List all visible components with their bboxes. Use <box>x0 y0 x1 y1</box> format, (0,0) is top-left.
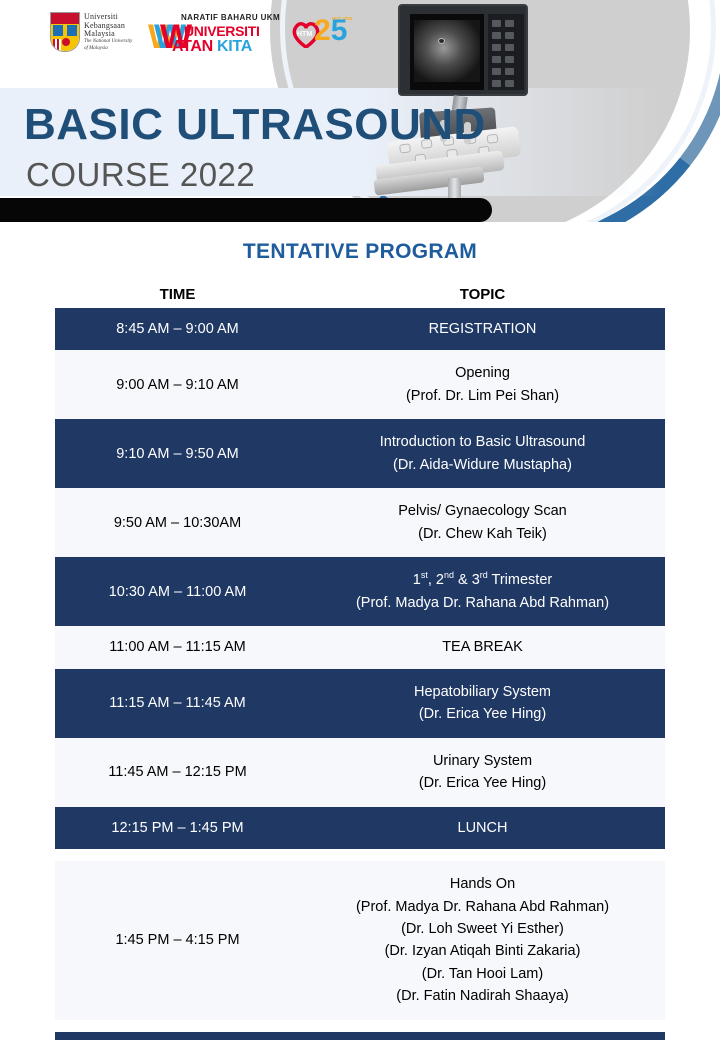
cell-time: 12:15 PM – 1:45 PM <box>55 817 300 839</box>
nbu-kita: KITA <box>217 38 252 55</box>
topic-line: Hepatobiliary System <box>304 681 661 703</box>
row-spacer <box>55 1020 665 1032</box>
ukm-tagline-2: of Malaysia <box>84 46 132 51</box>
table-header-row: TIME TOPIC <box>55 281 665 308</box>
table-body: 8:45 AM – 9:00 AMREGISTRATION9:00 AM – 9… <box>55 308 665 1040</box>
ukm-crest-icon <box>50 12 80 52</box>
nbu-tagline: NARATIF BAHARU UKM <box>181 13 280 22</box>
table-row: 11:45 AM – 12:15 PMUrinary System(Dr. Er… <box>55 738 665 807</box>
topic-line: REGISTRATION <box>304 318 661 340</box>
row-spacer <box>55 849 665 861</box>
program-heading: TENTATIVE PROGRAM <box>0 240 720 264</box>
nbu-atan: ATAN <box>172 38 213 55</box>
topic-line: (Dr. Erica Yee Hing) <box>304 703 661 725</box>
topic-line: (Prof. Dr. Lim Pei Shan) <box>304 385 661 407</box>
topic-line: (Dr. Izyan Atiqah Binti Zakaria) <box>304 940 661 962</box>
cell-topic: Hands On(Prof. Madya Dr. Rahana Abd Rahm… <box>300 873 665 1008</box>
htm-anniversary-number: 25 <box>314 16 347 46</box>
logo-htm-25: HTM HUT 2022 25 <box>292 14 366 58</box>
column-header-time: TIME <box>55 286 300 303</box>
table-row: 4:15 PM – 4:30 PMCLOSING <box>55 1032 665 1040</box>
cell-topic: Introduction to Basic Ultrasound(Dr. Aid… <box>300 431 665 476</box>
cell-time: 8:45 AM – 9:00 AM <box>55 318 300 340</box>
table-row: 10:30 AM – 11:00 AM1st, 2nd & 3rd Trimes… <box>55 557 665 626</box>
table-row: 9:50 AM – 10:30AMPelvis/ Gynaecology Sca… <box>55 488 665 557</box>
cell-topic: TEA BREAK <box>300 636 665 658</box>
column-header-topic: TOPIC <box>300 286 665 303</box>
table-row: 11:00 AM – 11:15 AMTEA BREAK <box>55 626 665 668</box>
cell-time: 9:50 AM – 10:30AM <box>55 512 300 534</box>
cell-topic: 1st, 2nd & 3rd Trimester(Prof. Madya Dr.… <box>300 569 665 614</box>
cell-topic: REGISTRATION <box>300 318 665 340</box>
table-row: 12:15 PM – 1:45 PMLUNCH <box>55 807 665 849</box>
table-row: 9:00 AM – 9:10 AMOpening(Prof. Dr. Lim P… <box>55 350 665 419</box>
nbu-line-universiti: UNIVERSITI <box>184 23 260 39</box>
page-title: BASIC ULTRASOUND <box>24 103 486 147</box>
hero-banner: BASIC ULTRASOUND COURSE 2022 Universiti … <box>0 0 720 222</box>
topic-line: (Prof. Madya Dr. Rahana Abd Rahman) <box>304 592 661 614</box>
cell-topic: Hepatobiliary System(Dr. Erica Yee Hing) <box>300 681 665 726</box>
topic-line: Urinary System <box>304 750 661 772</box>
topic-line: (Prof. Madya Dr. Rahana Abd Rahman) <box>304 896 661 918</box>
logo-ukm: Universiti Kebangsaan Malaysia The Natio… <box>50 12 132 52</box>
cell-time: 1:45 PM – 4:15 PM <box>55 929 300 951</box>
topic-line: TEA BREAK <box>304 636 661 658</box>
cell-time: 11:15 AM – 11:45 AM <box>55 692 300 714</box>
topic-line: Introduction to Basic Ultrasound <box>304 431 661 453</box>
topic-line: (Dr. Chew Kah Teik) <box>304 523 661 545</box>
page-subtitle: COURSE 2022 <box>26 158 255 191</box>
cell-time: 11:45 AM – 12:15 PM <box>55 761 300 783</box>
ukm-line-3: Malaysia <box>84 30 132 38</box>
topic-line: (Dr. Erica Yee Hing) <box>304 772 661 794</box>
topic-line: (Dr. Tan Hooi Lam) <box>304 963 661 985</box>
logo-naratif-baharu-ukm: W W W NARATIF BAHARU UKM UNIVERSITI ATAN… <box>148 12 288 58</box>
topic-line: Pelvis/ Gynaecology Scan <box>304 500 661 522</box>
table-row: 9:10 AM – 9:50 AMIntroduction to Basic U… <box>55 419 665 488</box>
cell-time: 10:30 AM – 11:00 AM <box>55 581 300 603</box>
topic-line: (Dr. Loh Sweet Yi Esther) <box>304 918 661 940</box>
topic-line: (Dr. Fatin Nadirah Shaaya) <box>304 985 661 1007</box>
cell-time: 9:10 AM – 9:50 AM <box>55 443 300 465</box>
topic-line: 1st, 2nd & 3rd Trimester <box>304 569 661 591</box>
cell-topic: LUNCH <box>300 817 665 839</box>
topic-line: Hands On <box>304 873 661 895</box>
logo-row: Universiti Kebangsaan Malaysia The Natio… <box>0 0 720 88</box>
cell-topic: Opening(Prof. Dr. Lim Pei Shan) <box>300 362 665 407</box>
table-row: 1:45 PM – 4:15 PMHands On(Prof. Madya Dr… <box>55 861 665 1020</box>
poster-page: BASIC ULTRASOUND COURSE 2022 Universiti … <box>0 0 720 1040</box>
topic-line: (Dr. Aida-Widure Mustapha) <box>304 454 661 476</box>
topic-line: Opening <box>304 362 661 384</box>
table-row: 11:15 AM – 11:45 AMHepatobiliary System(… <box>55 669 665 738</box>
ukm-wordmark: Universiti Kebangsaan Malaysia The Natio… <box>84 13 132 51</box>
htm-label: HTM <box>297 31 312 38</box>
cell-time: 9:00 AM – 9:10 AM <box>55 374 300 396</box>
hero-black-bar <box>0 198 492 222</box>
table-row: 8:45 AM – 9:00 AMREGISTRATION <box>55 308 665 350</box>
program-table: TIME TOPIC 8:45 AM – 9:00 AMREGISTRATION… <box>55 281 665 1040</box>
topic-line: LUNCH <box>304 817 661 839</box>
cell-topic: Urinary System(Dr. Erica Yee Hing) <box>300 750 665 795</box>
cell-topic: Pelvis/ Gynaecology Scan(Dr. Chew Kah Te… <box>300 500 665 545</box>
cell-time: 11:00 AM – 11:15 AM <box>55 636 300 658</box>
ukm-tagline-1: The National University <box>84 39 132 44</box>
nbu-line-watan-kita: ATAN KITA <box>172 38 252 56</box>
